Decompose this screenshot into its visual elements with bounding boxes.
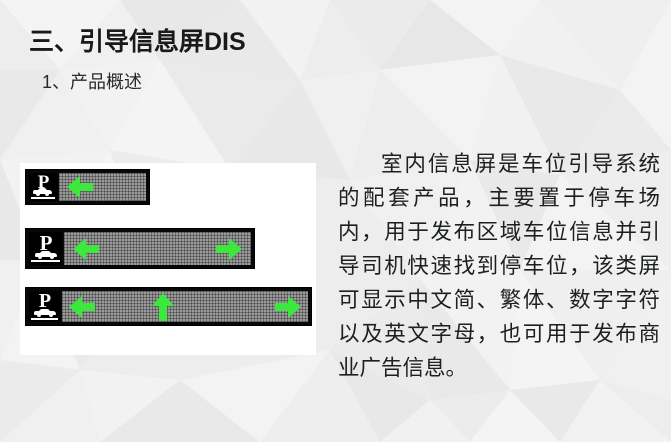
digit-group-888 bbox=[187, 297, 218, 316]
cell-digits bbox=[110, 179, 138, 196]
digit-group-888 bbox=[110, 179, 138, 196]
p-letter-glyph: P bbox=[40, 235, 52, 252]
led-matrix-area bbox=[62, 291, 308, 322]
arrow-right-icon bbox=[216, 238, 242, 260]
cell-digits bbox=[231, 297, 262, 316]
cell-digits bbox=[117, 239, 148, 258]
digit-group-888 bbox=[167, 239, 198, 258]
parking-p-car-icon: P bbox=[29, 173, 57, 201]
car-glyph-row bbox=[31, 309, 58, 320]
digit-group-888 bbox=[108, 297, 139, 316]
cell-arrow-left bbox=[67, 176, 93, 198]
digit-group-888 bbox=[231, 297, 262, 316]
parking-p-car-icon: P bbox=[29, 291, 60, 322]
cell-arrow-right bbox=[275, 296, 301, 318]
body-paragraph: 室内信息屏是车位引导系统的配套产品，主要置于停车场内，用于发布区域车位信息并引导… bbox=[338, 148, 660, 386]
arrow-up-icon bbox=[152, 293, 174, 321]
parking-p-car-icon: P bbox=[29, 232, 62, 265]
ground-line bbox=[31, 260, 59, 262]
cell-arrow-left bbox=[69, 296, 95, 318]
led-matrix-area bbox=[59, 173, 146, 201]
p-letter-glyph: P bbox=[39, 293, 50, 309]
car-glyph-row bbox=[31, 189, 55, 199]
led-matrix-area bbox=[64, 232, 251, 265]
car-icon bbox=[34, 309, 56, 317]
cell-digits bbox=[108, 297, 139, 316]
page-title: 三、引导信息屏DIS bbox=[29, 22, 246, 58]
car-icon bbox=[33, 189, 52, 196]
cell-digits bbox=[187, 297, 218, 316]
arrow-left-icon bbox=[67, 176, 93, 198]
cell-arrow-right bbox=[216, 238, 242, 260]
arrow-right-icon bbox=[275, 296, 301, 318]
car-icon bbox=[35, 251, 57, 259]
led-sign-single-direction[interactable]: P bbox=[25, 169, 150, 205]
led-sign-triple-direction[interactable]: P bbox=[25, 287, 312, 326]
digit-group-888 bbox=[117, 239, 148, 258]
car-glyph-row bbox=[31, 251, 59, 262]
arrow-left-icon bbox=[69, 296, 95, 318]
cell-arrow-up bbox=[152, 293, 174, 321]
slide-canvas: 三、引导信息屏DIS 1、产品概述 P bbox=[0, 0, 671, 442]
cell-digits bbox=[167, 239, 198, 258]
ground-line bbox=[31, 318, 58, 320]
cell-arrow-left bbox=[73, 238, 99, 260]
led-sign-dual-direction[interactable]: P bbox=[25, 228, 255, 269]
arrow-left-icon bbox=[73, 238, 99, 260]
section-subtitle: 1、产品概述 bbox=[42, 68, 142, 94]
ground-line bbox=[31, 197, 55, 199]
